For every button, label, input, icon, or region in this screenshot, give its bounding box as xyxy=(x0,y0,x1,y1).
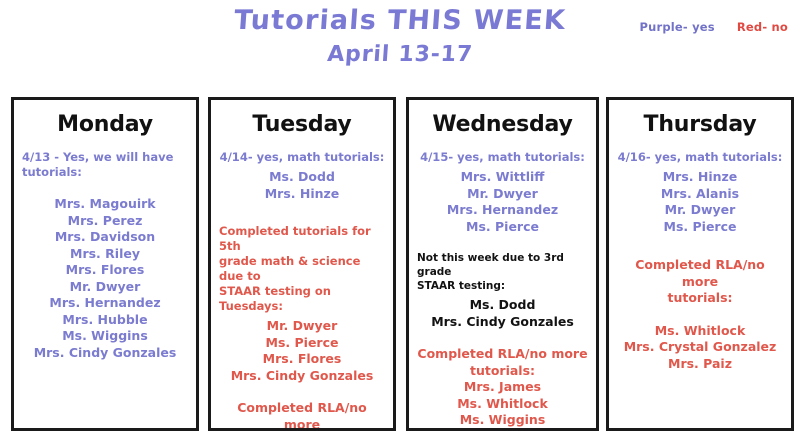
note-block: Ms. DoddMrs. Hinze xyxy=(217,169,387,202)
note-line: Mrs. Hinze xyxy=(217,186,387,203)
day-title: Monday xyxy=(20,112,190,138)
note-block: Ms. WhitlockMrs. Crystal GonzalezMrs. Pa… xyxy=(615,323,785,373)
note-block: Completed RLA/no moretutorials:Mrs. Jame… xyxy=(415,346,590,431)
note-line: Completed tutorials for 5th xyxy=(217,224,387,254)
note-line: Mrs. Cindy Gonzales xyxy=(415,314,590,331)
day-content: 4/13 - Yes, we will havetutorials:Mrs. M… xyxy=(20,150,190,361)
note-line: Ms. Whitlock xyxy=(415,396,590,413)
note-line: tutorials: xyxy=(615,290,785,307)
note-line: Mrs. Cindy Gonzales xyxy=(217,368,387,385)
note-line: STAAR testing on Tuesdays: xyxy=(217,284,387,314)
note-line: 4/15- yes, math tutorials: xyxy=(415,150,590,165)
note-line: Mrs. Davidson xyxy=(20,229,190,246)
day-title: Wednesday xyxy=(415,112,590,138)
note-line: Mr. Dwyer xyxy=(615,202,785,219)
day-card-monday: Monday4/13 - Yes, we will havetutorials:… xyxy=(11,97,199,431)
note-line: Ms. Wiggins xyxy=(415,412,590,429)
day-content: 4/14- yes, math tutorials:Ms. DoddMrs. H… xyxy=(217,150,387,431)
note-block: 4/16- yes, math tutorials: xyxy=(615,150,785,165)
note-line: Completed RLA/no more xyxy=(415,346,590,363)
day-card-tuesday: Tuesday4/14- yes, math tutorials:Ms. Dod… xyxy=(208,97,396,431)
note-line: Mrs. Hubble xyxy=(20,312,190,329)
note-block: Ms. DoddMrs. Cindy Gonzales xyxy=(415,297,590,330)
note-line: Completed RLA/no more xyxy=(615,257,785,290)
day-title: Tuesday xyxy=(217,112,387,138)
note-line: Ms. Dodd xyxy=(217,169,387,186)
note-line: Ms. Wiggins xyxy=(20,328,190,345)
legend-item-yes: Purple- yes xyxy=(639,20,714,34)
note-line: STAAR testing: xyxy=(415,279,590,293)
note-line: Ms. Pierce xyxy=(415,219,590,236)
note-line: Mrs. Paiz xyxy=(415,429,590,432)
note-line: Mrs. James xyxy=(415,379,590,396)
title-block: Tutorials THIS WEEK April 13-17 xyxy=(0,4,800,70)
note-line: 4/14- yes, math tutorials: xyxy=(217,150,387,165)
note-line: Mrs. Hernandez xyxy=(20,295,190,312)
note-line: Mrs. Riley xyxy=(20,246,190,263)
note-line: 4/13 - Yes, we will have xyxy=(20,150,190,165)
note-block: Mr. DwyerMs. PierceMrs. FloresMrs. Cindy… xyxy=(217,318,387,384)
note-line: Mrs. Alanis xyxy=(615,186,785,203)
note-line: Mr. Dwyer xyxy=(20,279,190,296)
day-content: 4/15- yes, math tutorials:Mrs. WittliffM… xyxy=(415,150,590,431)
color-legend: Purple- yes Red- no xyxy=(639,20,788,34)
note-block: 4/14- yes, math tutorials: xyxy=(217,150,387,165)
note-line: Completed RLA/no more xyxy=(217,400,387,431)
day-content: 4/16- yes, math tutorials:Mrs. HinzeMrs.… xyxy=(615,150,785,372)
note-line: Not this week due to 3rd grade xyxy=(415,251,590,279)
week-board: Monday4/13 - Yes, we will havetutorials:… xyxy=(0,97,800,435)
note-block: Mrs. MagouirkMrs. PerezMrs. DavidsonMrs.… xyxy=(20,196,190,361)
note-line: Mrs. Wittliff xyxy=(415,169,590,186)
note-line: grade math & science due to xyxy=(217,254,387,284)
note-line: Mrs. Hernandez xyxy=(415,202,590,219)
note-line: tutorials: xyxy=(20,165,190,180)
note-line: Mrs. Flores xyxy=(20,262,190,279)
note-line: tutorials: xyxy=(415,363,590,380)
note-block: 4/13 - Yes, we will havetutorials: xyxy=(20,150,190,180)
note-block: Mrs. WittliffMr. DwyerMrs. HernandezMs. … xyxy=(415,169,590,235)
note-block: 4/15- yes, math tutorials: xyxy=(415,150,590,165)
note-line: Mr. Dwyer xyxy=(217,318,387,335)
note-line: Mrs. Cindy Gonzales xyxy=(20,345,190,362)
note-block: Completed tutorials for 5thgrade math & … xyxy=(217,224,387,314)
page-subtitle: April 13-17 xyxy=(0,40,800,70)
note-line: Mrs. Magouirk xyxy=(20,196,190,213)
note-line: Mrs. Perez xyxy=(20,213,190,230)
note-line: Mr. Dwyer xyxy=(415,186,590,203)
note-line: 4/16- yes, math tutorials: xyxy=(615,150,785,165)
day-title: Thursday xyxy=(615,112,785,138)
page-header: Tutorials THIS WEEK April 13-17 Purple- … xyxy=(0,0,800,92)
note-line: Mrs. Hinze xyxy=(615,169,785,186)
note-line: Ms. Pierce xyxy=(615,219,785,236)
note-line: Ms. Whitlock xyxy=(615,323,785,340)
note-block: Completed RLA/no moretutorials:Mrs. Crys… xyxy=(217,400,387,431)
note-line: Mrs. Flores xyxy=(217,351,387,368)
note-block: Completed RLA/no moretutorials: xyxy=(615,257,785,307)
note-line: Mrs. Paiz xyxy=(615,356,785,373)
note-block: Mrs. HinzeMrs. AlanisMr. DwyerMs. Pierce xyxy=(615,169,785,235)
day-card-wednesday: Wednesday4/15- yes, math tutorials:Mrs. … xyxy=(406,97,599,431)
note-line: Mrs. Crystal Gonzalez xyxy=(615,339,785,356)
note-line: Ms. Pierce xyxy=(217,335,387,352)
day-card-thursday: Thursday4/16- yes, math tutorials:Mrs. H… xyxy=(606,97,794,431)
note-line: Ms. Dodd xyxy=(415,297,590,314)
legend-item-no: Red- no xyxy=(737,20,788,34)
note-block: Not this week due to 3rd gradeSTAAR test… xyxy=(415,251,590,293)
